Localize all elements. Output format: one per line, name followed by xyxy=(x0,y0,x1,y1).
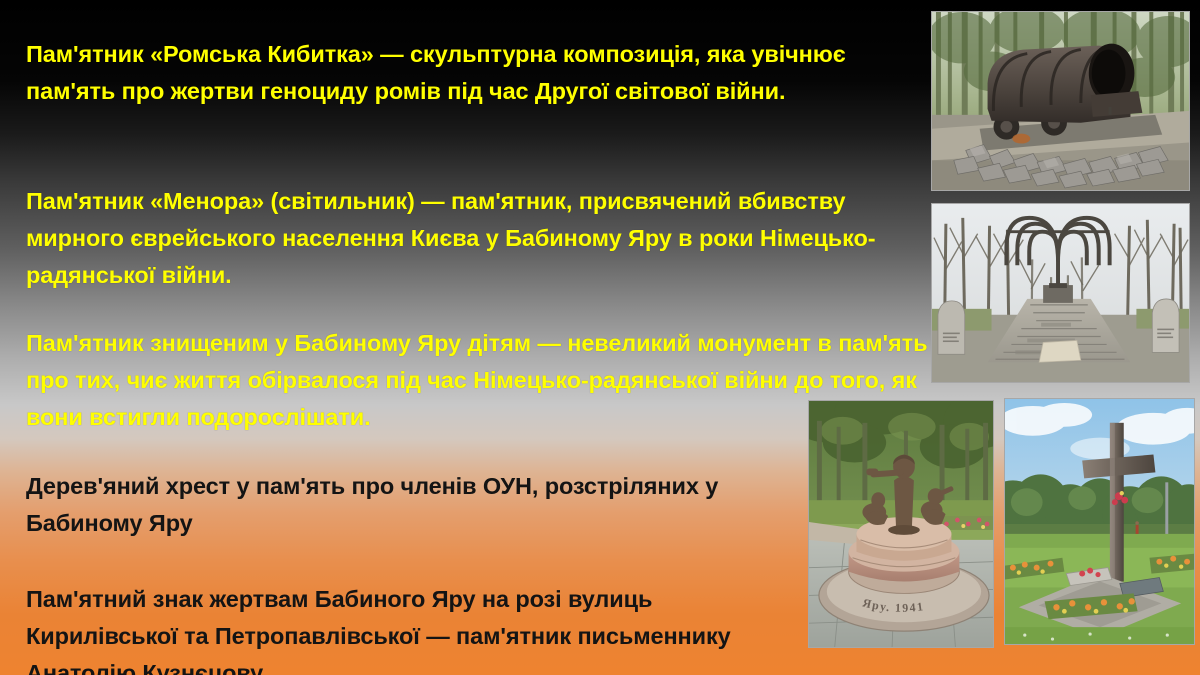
presentation-slide: Пам'ятник «Ромська Кибитка» — скульптурн… xyxy=(0,0,1200,675)
photo-children-monument: Яру. 1941 xyxy=(808,400,994,648)
paragraph-menorah: Пам'ятник «Менора» (світильник) — пам'ят… xyxy=(26,183,886,294)
photo-oun-cross xyxy=(1004,398,1195,645)
photo-oun-cross-image xyxy=(1005,399,1194,644)
photo-roma-wagon-image xyxy=(932,12,1189,190)
paragraph-oun-cross: Дерев'яний хрест у пам'ять про членів ОУ… xyxy=(26,468,816,542)
photo-children-monument-image: Яру. 1941 xyxy=(809,401,993,647)
photo-menorah xyxy=(931,203,1190,383)
paragraph-kuznetsov-sign: Пам'ятний знак жертвам Бабиного Яру на р… xyxy=(26,581,806,675)
photo-menorah-image xyxy=(932,204,1189,382)
paragraph-roma-wagon: Пам'ятник «Ромська Кибитка» — скульптурн… xyxy=(26,36,926,110)
photo-roma-wagon xyxy=(931,11,1190,191)
